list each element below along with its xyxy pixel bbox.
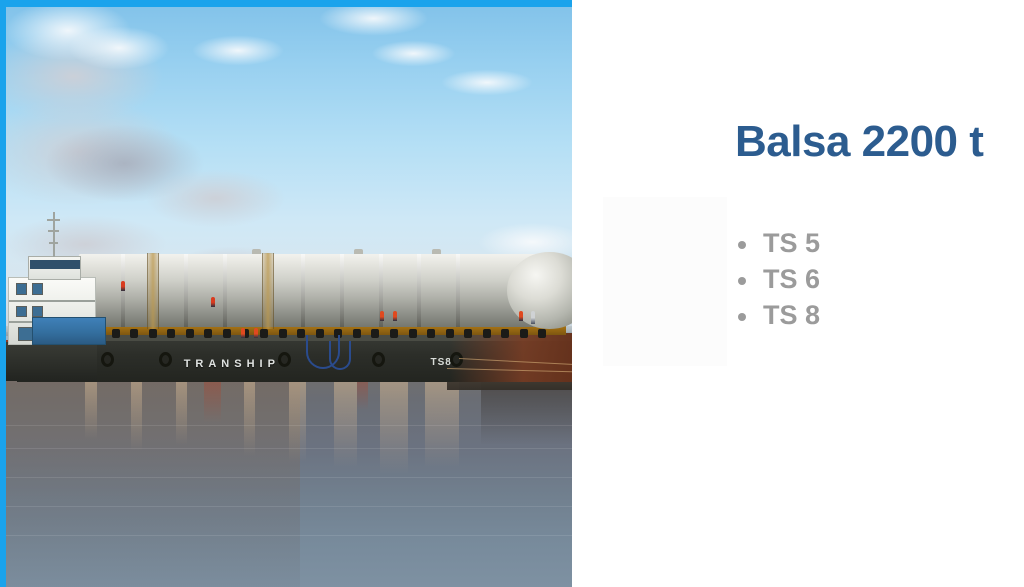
worker-figure (121, 281, 125, 291)
tug-hull (6, 342, 97, 380)
tug-wheelhouse-window (30, 260, 80, 269)
worker-figure (519, 311, 523, 321)
worker-figure (254, 328, 258, 338)
barge-fender (278, 352, 291, 367)
slide-canvas: TRANSHIP TS8 (0, 0, 1024, 587)
cargo-barge-photo: TRANSHIP TS8 (6, 7, 572, 587)
page-title: Balsa 2200 t (735, 118, 1024, 166)
list-item[interactable]: TS 6 (735, 261, 1015, 297)
content-panel: Balsa 2200 t TS 5 TS 6 TS 8 (572, 0, 1024, 587)
content-placeholder-box[interactable] (603, 197, 727, 366)
pressure-vessel-column (77, 254, 564, 327)
barge-fender (372, 352, 385, 367)
list-item[interactable]: TS 5 (735, 225, 1015, 261)
worker-figure (241, 328, 245, 338)
bullet-list: TS 5 TS 6 TS 8 (735, 225, 1015, 334)
worker-figure (531, 311, 535, 324)
deck-hose (329, 341, 352, 370)
barge-code-text: TS8 (431, 357, 452, 368)
barge-rust-patch (450, 333, 572, 382)
barge-name-text: TRANSHIP (184, 358, 280, 370)
list-item[interactable]: TS 8 (735, 297, 1015, 333)
worker-figure (211, 297, 215, 307)
worker-figure (393, 311, 397, 321)
barge-fender (101, 352, 114, 367)
worker-figure (380, 311, 384, 321)
deck-container (32, 317, 106, 345)
water-shadow-region (6, 352, 300, 587)
barge-fender (159, 352, 172, 367)
photo-frame: TRANSHIP TS8 (0, 0, 572, 587)
